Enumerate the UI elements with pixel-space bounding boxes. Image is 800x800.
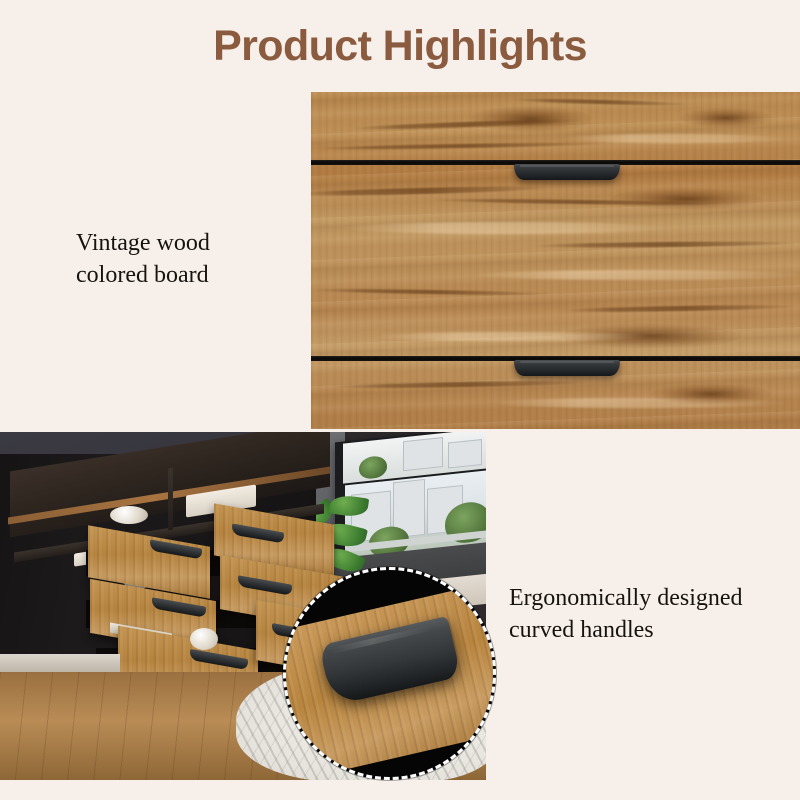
- wood-knot: [651, 384, 771, 404]
- caption-right-line1: Ergonomically designed: [509, 583, 797, 615]
- caption-vintage-wood: Vintage wood colored board: [76, 228, 291, 291]
- wood-highlight: [371, 332, 651, 341]
- dresser-shelf-divider: [168, 468, 173, 531]
- decor-knob: [190, 628, 218, 650]
- wood-panel-photo: [311, 92, 800, 429]
- drawer-handle-top[interactable]: [514, 164, 620, 180]
- wood-highlight: [341, 222, 671, 234]
- tree-shape: [359, 455, 387, 480]
- handle-magnifier-inset: [283, 567, 496, 780]
- caption-left-line2: colored board: [76, 260, 291, 292]
- decor-bowl: [110, 506, 148, 524]
- page-title: Product Highlights: [0, 22, 800, 71]
- drawer-handle-bottom[interactable]: [514, 360, 620, 376]
- wood-highlight: [561, 134, 791, 143]
- caption-ergonomic-handles: Ergonomically designed curved handles: [509, 583, 797, 646]
- wall-baseboard: [0, 654, 120, 672]
- cityscape-building: [403, 437, 443, 471]
- caption-left-line1: Vintage wood: [76, 228, 291, 260]
- wood-knot: [681, 108, 771, 128]
- wood-highlight: [471, 270, 800, 280]
- caption-right-line2: curved handles: [509, 615, 797, 647]
- wood-knot: [611, 188, 761, 210]
- cityscape-building: [448, 439, 482, 469]
